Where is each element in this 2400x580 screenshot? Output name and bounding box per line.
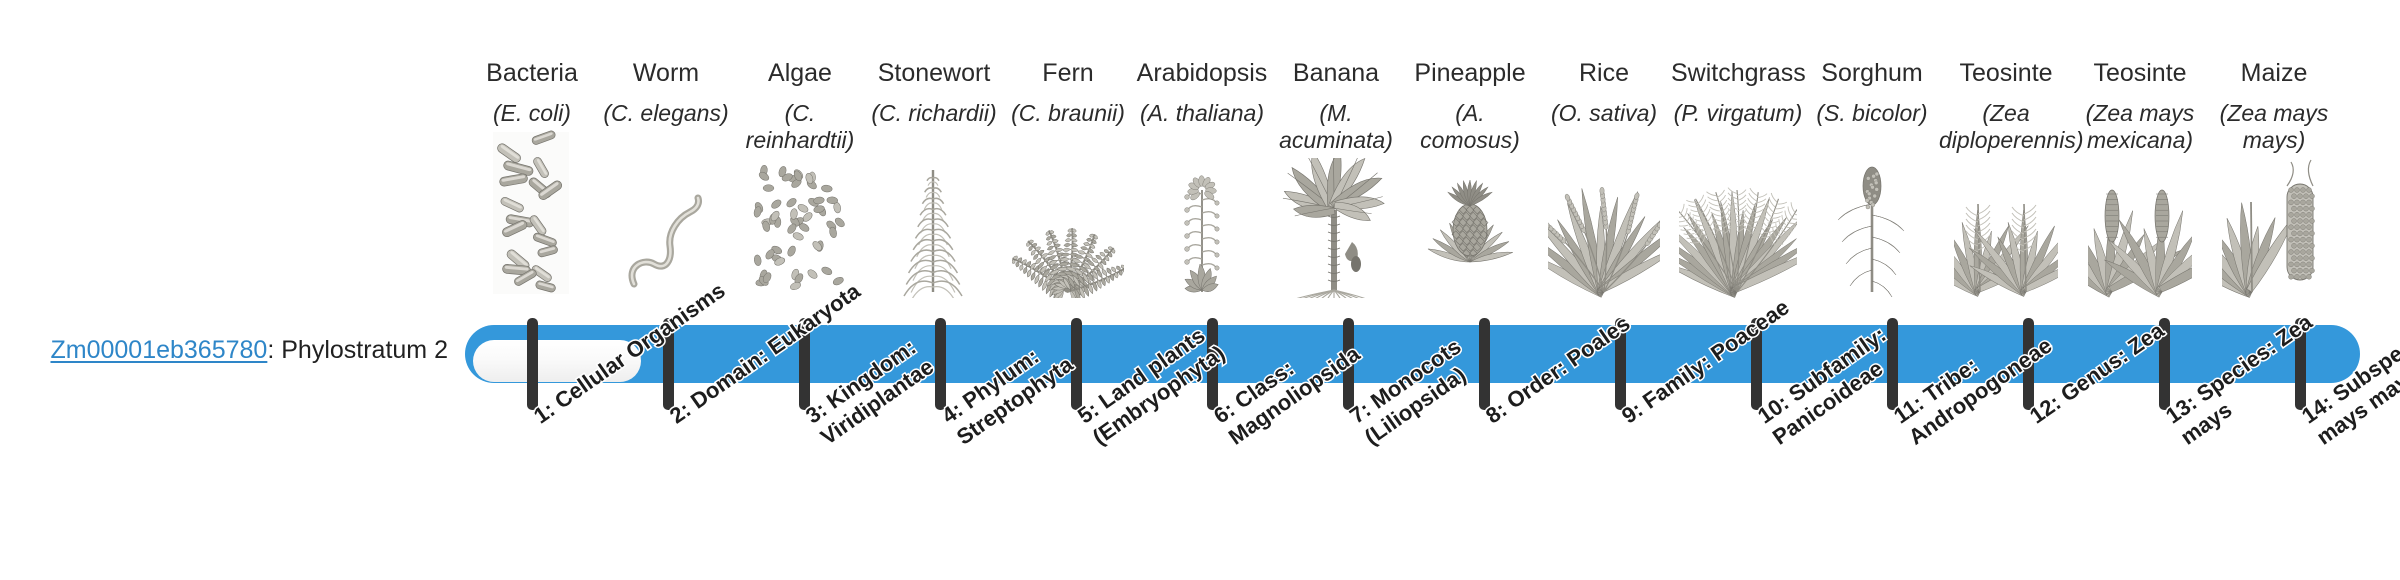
species-column-worm-2: Worm(C. elegans) bbox=[599, 0, 733, 320]
species-common-name: Fern bbox=[1001, 58, 1135, 88]
rice-illustration bbox=[1537, 168, 1671, 298]
gene-id-link[interactable]: Zm00001eb365780 bbox=[50, 336, 267, 364]
species-column-rice-9: Rice(O. sativa) bbox=[1537, 0, 1671, 320]
phylostratigraphy-figure: Zm00001eb365780: Phylostratum 2 Bacteria… bbox=[0, 0, 2400, 580]
phylostratum-text: Phylostratum 2 bbox=[281, 336, 448, 364]
algae-illustration bbox=[733, 168, 867, 298]
gene-label-separator: : bbox=[267, 336, 281, 364]
species-common-name: Pineapple bbox=[1403, 58, 1537, 88]
species-scientific-name: (S. bicolor) bbox=[1805, 100, 1939, 127]
species-scientific-name: (Zea mays mexicana) bbox=[2073, 100, 2207, 154]
fern-illustration bbox=[1001, 168, 1135, 298]
species-column-banana-7: Banana(M. acuminata) bbox=[1269, 0, 1403, 320]
species-scientific-name: (A. comosus) bbox=[1403, 100, 1537, 154]
maize-illustration bbox=[2207, 168, 2341, 298]
stonewort-illustration bbox=[867, 168, 1001, 298]
species-common-name: Bacteria bbox=[465, 58, 599, 88]
arabidopsis-illustration bbox=[1135, 168, 1269, 298]
species-column-stonewort-4: Stonewort(C. richardii) bbox=[867, 0, 1001, 320]
switchgrass-illustration bbox=[1671, 168, 1805, 298]
species-common-name: Banana bbox=[1269, 58, 1403, 88]
gene-phylostratum-label: Zm00001eb365780: Phylostratum 2 bbox=[0, 335, 448, 365]
sorghum-illustration bbox=[1805, 168, 1939, 298]
species-column-maize-14: Maize(Zea mays mays) bbox=[2207, 0, 2341, 320]
pineapple-illustration bbox=[1403, 168, 1537, 298]
species-column-sorghum-11: Sorghum(S. bicolor) bbox=[1805, 0, 1939, 320]
species-scientific-name: (A. thaliana) bbox=[1135, 100, 1269, 127]
species-scientific-name: (E. coli) bbox=[465, 100, 599, 127]
species-column-pineapple-8: Pineapple(A. comosus) bbox=[1403, 0, 1537, 320]
banana-illustration bbox=[1269, 168, 1403, 298]
species-common-name: Arabidopsis bbox=[1135, 58, 1269, 88]
species-common-name: Algae bbox=[733, 58, 867, 88]
species-scientific-name: (Zea mays mays) bbox=[2207, 100, 2341, 154]
species-scientific-name: (C. braunii) bbox=[1001, 100, 1135, 127]
teosinte-mexicana-illustration bbox=[2073, 168, 2207, 298]
species-column-switchgrass-10: Switchgrass(P. virgatum) bbox=[1671, 0, 1805, 320]
species-column-algae-3: Algae(C. reinhardtii) bbox=[733, 0, 867, 320]
species-scientific-name: (P. virgatum) bbox=[1671, 100, 1805, 127]
species-column-teosinte-13: Teosinte(Zea mays mexicana) bbox=[2073, 0, 2207, 320]
species-scientific-name: (C. reinhardtii) bbox=[733, 100, 867, 154]
species-scientific-name: (C. elegans) bbox=[599, 100, 733, 127]
bar-tick-1[interactable] bbox=[527, 318, 538, 410]
species-scientific-name: (C. richardii) bbox=[867, 100, 1001, 127]
species-scientific-name: (O. sativa) bbox=[1537, 100, 1671, 127]
species-common-name: Maize bbox=[2207, 58, 2341, 88]
species-common-name: Switchgrass bbox=[1671, 58, 1805, 88]
teosinte-diploperennis-illustration bbox=[1939, 168, 2073, 298]
species-scientific-name: (M. acuminata) bbox=[1269, 100, 1403, 154]
stratum-labels: 1: Cellular Organisms2: Domain: Eukaryot… bbox=[465, 408, 2375, 580]
species-common-name: Teosinte bbox=[1939, 58, 2073, 88]
species-columns: Bacteria(E. coli)Worm(C. elegans)Algae(C… bbox=[465, 0, 2345, 320]
species-common-name: Rice bbox=[1537, 58, 1671, 88]
species-column-teosinte-12: Teosinte(Zea diploperennis) bbox=[1939, 0, 2073, 320]
species-column-bacteria-1: Bacteria(E. coli) bbox=[465, 0, 599, 320]
species-common-name: Worm bbox=[599, 58, 733, 88]
bacteria-illustration bbox=[465, 168, 599, 298]
species-common-name: Teosinte bbox=[2073, 58, 2207, 88]
species-column-fern-5: Fern(C. braunii) bbox=[1001, 0, 1135, 320]
species-scientific-name: (Zea diploperennis) bbox=[1939, 100, 2073, 154]
species-column-arabidopsis-6: Arabidopsis(A. thaliana) bbox=[1135, 0, 1269, 320]
species-common-name: Sorghum bbox=[1805, 58, 1939, 88]
species-common-name: Stonewort bbox=[867, 58, 1001, 88]
